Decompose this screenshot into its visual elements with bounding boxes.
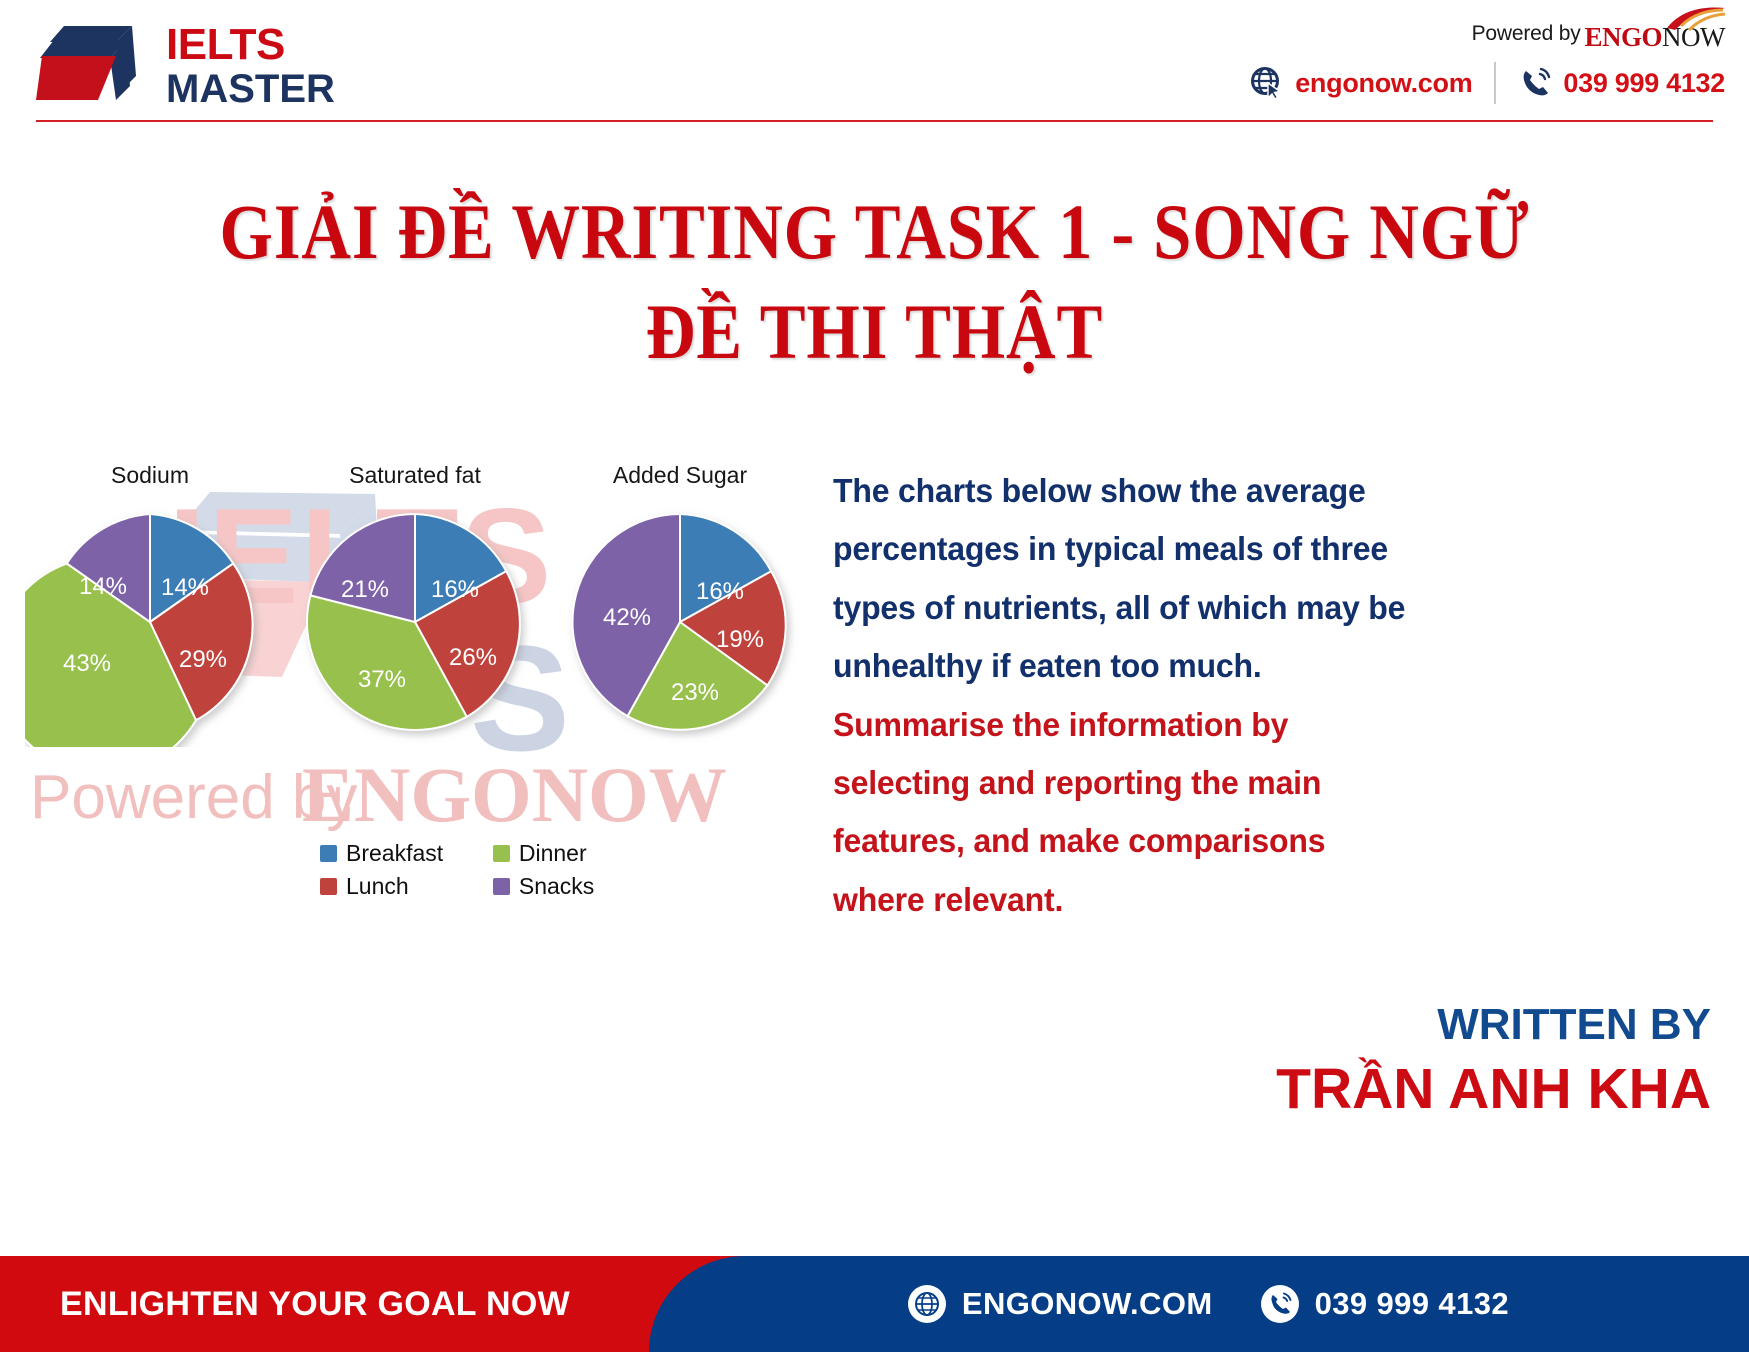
pie-title-0: Sodium bbox=[20, 462, 280, 489]
header-website[interactable]: engonow.com bbox=[1250, 66, 1472, 100]
pie-chart-sodium: Sodium bbox=[20, 462, 280, 747]
powered-by-label: Powered by bbox=[1472, 22, 1581, 46]
legend-swatch-snacks bbox=[493, 878, 510, 895]
engonow-bold: ENGO bbox=[1585, 22, 1663, 52]
pie-chart-added-sugar: Added Sugar bbox=[550, 462, 810, 747]
pie-chart-saturated-fat: Saturated fat bbox=[285, 462, 545, 747]
header-phone-text: 039 999 4132 bbox=[1563, 68, 1725, 99]
legend-swatch-breakfast bbox=[320, 845, 337, 862]
phone-icon bbox=[1261, 1285, 1299, 1323]
written-by-label: WRITTEN BY bbox=[1276, 1000, 1711, 1050]
logo-line1: IELTS bbox=[166, 20, 285, 69]
page-footer: ENLIGHTEN YOUR GOAL NOW ENGONOW.COM bbox=[0, 1256, 1749, 1352]
footer-contact: ENGONOW.COM 039 999 4132 bbox=[908, 1256, 1509, 1352]
footer-slogan: ENLIGHTEN YOUR GOAL NOW bbox=[60, 1256, 570, 1352]
pie-label-0-snacks: 14% bbox=[79, 573, 127, 600]
pie-title-2: Added Sugar bbox=[550, 462, 810, 489]
legend-label-breakfast: Breakfast bbox=[346, 840, 443, 867]
pie-label-1-dinner: 37% bbox=[358, 666, 406, 693]
legend-label-lunch: Lunch bbox=[346, 873, 409, 900]
pie-label-1-lunch: 26% bbox=[449, 644, 497, 671]
legend-item-snacks: Snacks bbox=[493, 873, 600, 900]
legend-item-lunch: Lunch bbox=[320, 873, 449, 900]
header-phone[interactable]: 039 999 4132 bbox=[1518, 66, 1725, 100]
prompt-red-line-1: selecting and reporting the main bbox=[833, 754, 1512, 812]
pie-label-0-breakfast: 14% bbox=[161, 574, 209, 601]
task-prompt: The charts below show the average percen… bbox=[833, 462, 1533, 929]
pie-label-0-dinner: 43% bbox=[63, 650, 111, 677]
globe-cursor-icon bbox=[1250, 66, 1284, 100]
pie-slices-0 bbox=[25, 514, 253, 747]
legend-swatch-lunch bbox=[320, 878, 337, 895]
prompt-red-line-2: features, and make comparisons bbox=[833, 812, 1512, 870]
legend-item-dinner: Dinner bbox=[493, 840, 600, 867]
pie-svg-0: 14% 29% 43% 14% bbox=[25, 497, 275, 747]
poster-canvas: IELTS MASTER Powered by ENGONOW bbox=[0, 0, 1749, 1352]
pie-title-1: Saturated fat bbox=[285, 462, 545, 489]
footer-phone[interactable]: 039 999 4132 bbox=[1261, 1285, 1509, 1323]
pie-label-2-breakfast: 16% bbox=[696, 578, 744, 605]
pie-svg-2: 16% 19% 23% 42% bbox=[555, 497, 805, 747]
prompt-navy-line-0: The charts below show the average bbox=[833, 462, 1512, 520]
pie-slices-1 bbox=[307, 514, 520, 730]
prompt-navy-line-1: percentages in typical meals of three bbox=[833, 520, 1512, 578]
logo-mark-icon bbox=[36, 16, 144, 108]
pie-label-1-breakfast: 16% bbox=[431, 576, 479, 603]
pie-label-2-lunch: 19% bbox=[716, 626, 764, 653]
pie-label-0-lunch: 29% bbox=[179, 646, 227, 673]
chart-panel: IELTS S Powered by ENGONOW Sodium bbox=[20, 462, 810, 942]
legend-item-breakfast: Breakfast bbox=[320, 840, 449, 867]
footer-phone-text: 039 999 4132 bbox=[1315, 1286, 1509, 1322]
pie-charts-group: Sodium bbox=[20, 462, 810, 862]
footer-website-text: ENGONOW.COM bbox=[962, 1286, 1213, 1322]
legend-swatch-dinner bbox=[493, 845, 510, 862]
page-title-line1: GIẢI ĐỀ WRITING TASK 1 - SONG NGỮ bbox=[105, 182, 1644, 282]
header-website-text: engonow.com bbox=[1295, 68, 1472, 99]
header-rule bbox=[36, 120, 1713, 122]
chart-legend: Breakfast Dinner Lunch Snacks bbox=[320, 840, 600, 900]
page-title-line2: ĐỀ THI THẬT bbox=[105, 282, 1644, 382]
header-divider bbox=[1494, 62, 1496, 104]
prompt-red-line-0: Summarise the information by bbox=[833, 696, 1512, 754]
page-header: IELTS MASTER Powered by ENGONOW bbox=[0, 0, 1749, 126]
author-credit: WRITTEN BY TRẦN ANH KHA bbox=[1276, 1000, 1711, 1122]
prompt-red-line-3: where relevant. bbox=[833, 871, 1512, 929]
logo-line2: MASTER bbox=[166, 68, 335, 110]
page-title: GIẢI ĐỀ WRITING TASK 1 - SONG NGỮ ĐỀ THI… bbox=[0, 182, 1749, 382]
pie-label-2-dinner: 23% bbox=[671, 679, 719, 706]
logo-wordmark: IELTS MASTER bbox=[166, 22, 335, 110]
prompt-navy-line-2: types of nutrients, all of which may be bbox=[833, 579, 1512, 637]
legend-label-dinner: Dinner bbox=[519, 840, 587, 867]
author-name: TRẦN ANH KHA bbox=[1276, 1056, 1711, 1122]
pie-svg-1: 16% 26% 37% 21% bbox=[290, 497, 540, 747]
pie-label-2-snacks: 42% bbox=[603, 604, 651, 631]
globe-icon bbox=[908, 1285, 946, 1323]
header-contact: engonow.com 039 999 4132 bbox=[1250, 62, 1725, 104]
footer-website[interactable]: ENGONOW.COM bbox=[908, 1285, 1213, 1323]
phone-icon bbox=[1518, 66, 1552, 100]
pie-label-1-snacks: 21% bbox=[341, 576, 389, 603]
legend-label-snacks: Snacks bbox=[519, 873, 594, 900]
ielts-master-logo: IELTS MASTER bbox=[36, 14, 336, 110]
powered-by-engonow: Powered by ENGONOW bbox=[1472, 22, 1725, 53]
swoosh-icon bbox=[1659, 6, 1729, 32]
prompt-navy-line-3: unhealthy if eaten too much. bbox=[833, 637, 1512, 695]
